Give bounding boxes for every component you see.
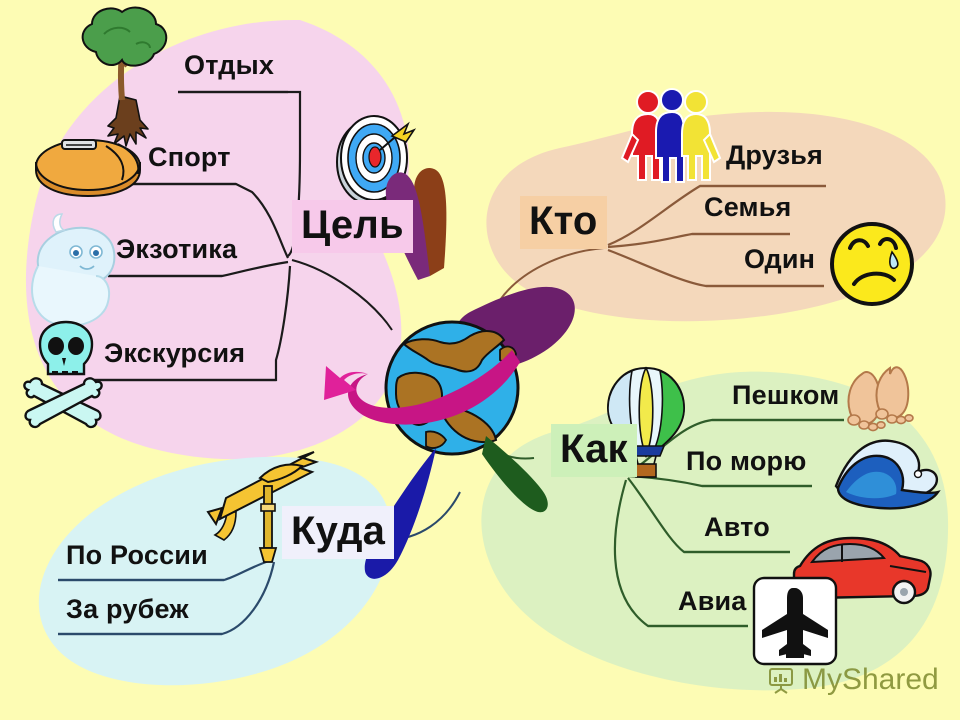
ghost-icon [32, 214, 114, 326]
target-dartboard-icon [337, 116, 414, 204]
leaf-label-avia[interactable]: Авиа [674, 588, 751, 618]
leaf-label-semya[interactable]: Семья [700, 194, 795, 224]
wave-icon [836, 441, 938, 509]
skull-crossbones-icon [24, 322, 101, 427]
leaf-label-avto[interactable]: Авто [700, 514, 774, 544]
sad-face-icon [832, 224, 912, 304]
car-icon [794, 538, 931, 607]
leaf-label-druzya[interactable]: Друзья [722, 142, 827, 172]
leaf-label-zarubezh[interactable]: За рубеж [62, 596, 193, 626]
tree-icon [83, 8, 167, 146]
link-cel-center [292, 260, 392, 330]
three-people-icon [622, 89, 720, 182]
leaf-label-otdyh[interactable]: Отдых [180, 52, 278, 82]
hub-label-kto[interactable]: Кто [520, 196, 607, 249]
presentation-board-icon [766, 665, 796, 695]
link-cel-otdyh [178, 92, 300, 256]
leaf-label-sport[interactable]: Спорт [144, 144, 235, 174]
sports-bag-icon [36, 140, 140, 196]
watermark: MyShared [766, 663, 939, 697]
watermark-text: MyShared [802, 663, 939, 697]
link-kuda-center [386, 492, 460, 540]
leaf-label-ekzotika[interactable]: Экзотика [112, 236, 241, 266]
airplane-sign-icon [754, 578, 836, 664]
leaf-label-ekskursiya[interactable]: Экскурсия [100, 340, 249, 370]
bare-feet-icon [848, 367, 913, 430]
leaf-label-porossii[interactable]: По России [62, 542, 212, 572]
link-kak-center [470, 420, 534, 459]
leaf-label-pomoryu[interactable]: По морю [682, 448, 810, 478]
link-kto-center [500, 248, 604, 300]
hub-label-kuda[interactable]: Куда [282, 506, 394, 559]
hub-label-cel[interactable]: Цель [292, 200, 413, 253]
mindmap-canvas: Цель Отдых Спорт Экзотика Экскурсия Кто … [0, 0, 960, 720]
leaf-label-odin[interactable]: Один [740, 246, 819, 276]
hub-label-kak[interactable]: Как [551, 424, 637, 477]
leaf-label-peshkom[interactable]: Пешком [728, 382, 843, 412]
